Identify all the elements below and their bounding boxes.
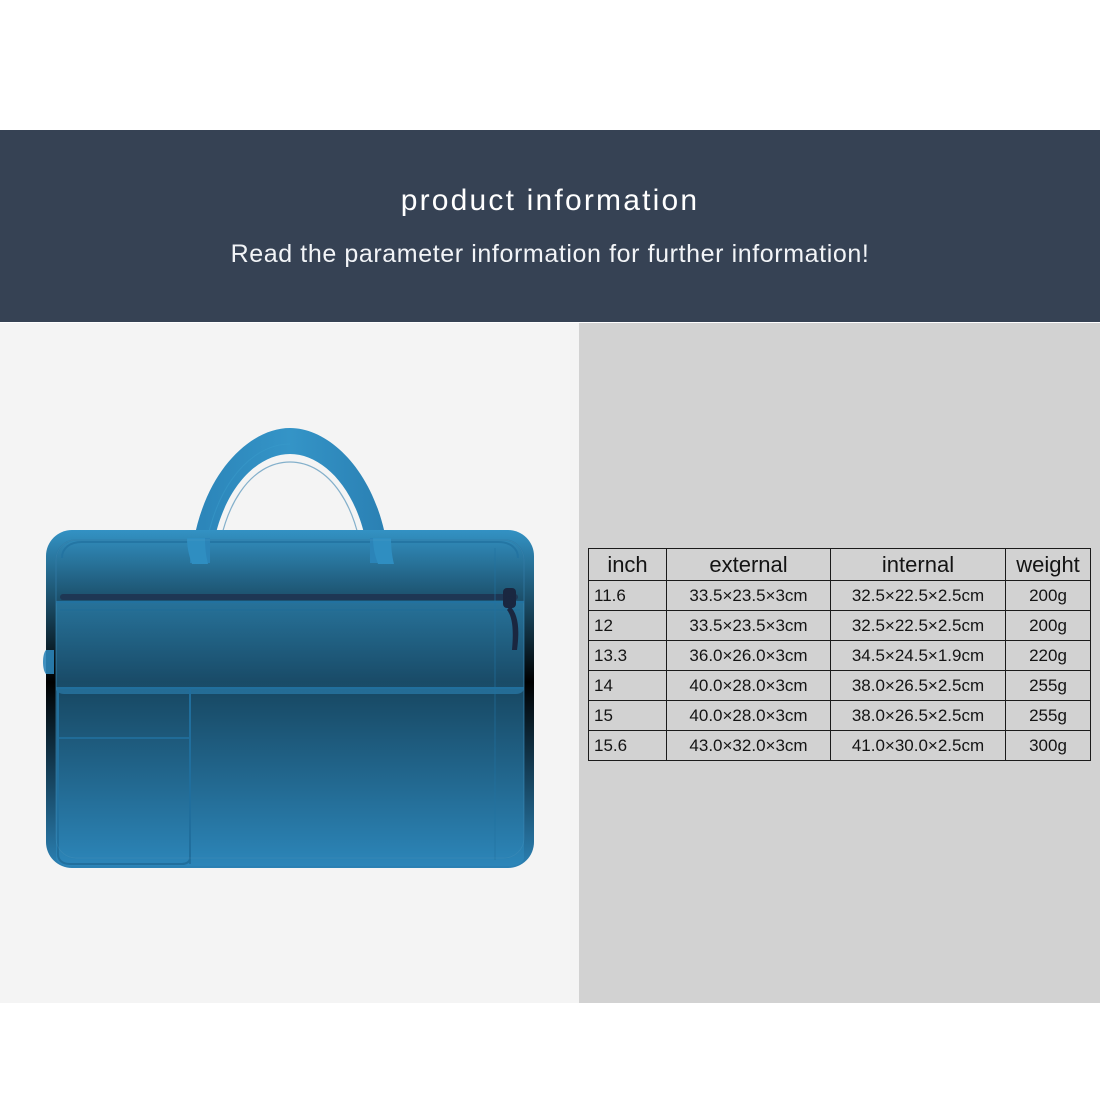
column-header-inch: inch [589, 549, 667, 581]
table-row: 13.3 36.0×26.0×3cm 34.5×24.5×1.9cm 220g [589, 641, 1091, 671]
cell-weight: 220g [1006, 641, 1091, 671]
cell-inch: 15 [589, 701, 667, 731]
cell-external: 40.0×28.0×3cm [667, 671, 831, 701]
cell-inch: 11.6 [589, 581, 667, 611]
cell-internal: 41.0×30.0×2.5cm [831, 731, 1006, 761]
table-header-row: inch external internal weight [589, 549, 1091, 581]
bag-side-tab [43, 650, 54, 674]
cell-inch: 14 [589, 671, 667, 701]
bag-front-zip-pocket [56, 588, 524, 694]
spec-table-container: inch external internal weight 11.6 33.5×… [588, 548, 1090, 761]
table-row: 11.6 33.5×23.5×3cm 32.5×22.5×2.5cm 200g [589, 581, 1091, 611]
page-title: product information [401, 186, 700, 216]
cell-internal: 38.0×26.5×2.5cm [831, 701, 1006, 731]
product-image-panel [0, 323, 579, 1003]
page-subtitle: Read the parameter information for furth… [231, 242, 870, 267]
cell-weight: 255g [1006, 671, 1091, 701]
laptop-bag-image [40, 388, 540, 888]
table-row: 14 40.0×28.0×3cm 38.0×26.5×2.5cm 255g [589, 671, 1091, 701]
table-row: 12 33.5×23.5×3cm 32.5×22.5×2.5cm 200g [589, 611, 1091, 641]
cell-external: 33.5×23.5×3cm [667, 611, 831, 641]
column-header-weight: weight [1006, 549, 1091, 581]
cell-weight: 200g [1006, 581, 1091, 611]
cell-external: 43.0×32.0×3cm [667, 731, 831, 761]
column-header-internal: internal [831, 549, 1006, 581]
cell-weight: 200g [1006, 611, 1091, 641]
column-header-external: external [667, 549, 831, 581]
cell-weight: 255g [1006, 701, 1091, 731]
table-row: 15.6 43.0×32.0×3cm 41.0×30.0×2.5cm 300g [589, 731, 1091, 761]
cell-internal: 34.5×24.5×1.9cm [831, 641, 1006, 671]
cell-internal: 32.5×22.5×2.5cm [831, 581, 1006, 611]
spec-table-panel: inch external internal weight 11.6 33.5×… [579, 323, 1100, 1003]
cell-internal: 38.0×26.5×2.5cm [831, 671, 1006, 701]
cell-inch: 15.6 [589, 731, 667, 761]
table-row: 15 40.0×28.0×3cm 38.0×26.5×2.5cm 255g [589, 701, 1091, 731]
cell-external: 40.0×28.0×3cm [667, 701, 831, 731]
cell-inch: 12 [589, 611, 667, 641]
cell-external: 33.5×23.5×3cm [667, 581, 831, 611]
cell-weight: 300g [1006, 731, 1091, 761]
cell-external: 36.0×26.0×3cm [667, 641, 831, 671]
cell-inch: 13.3 [589, 641, 667, 671]
product-spec-table: inch external internal weight 11.6 33.5×… [588, 548, 1091, 761]
cell-internal: 32.5×22.5×2.5cm [831, 611, 1006, 641]
product-information-banner: product information Read the parameter i… [0, 130, 1100, 322]
content-panels: inch external internal weight 11.6 33.5×… [0, 323, 1100, 1003]
